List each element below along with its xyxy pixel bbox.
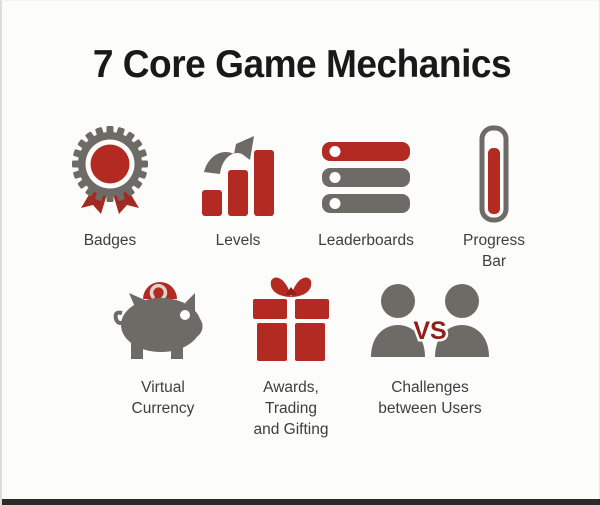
infographic-canvas: 7 Core Game Mechanics	[0, 0, 600, 505]
badge-rosette-icon	[67, 126, 153, 222]
mechanic-item-leaderboards[interactable]: Leaderboards	[302, 126, 430, 251]
mechanic-item-progress-bar[interactable]: Progress Bar	[430, 126, 558, 272]
leaderboard-list-icon	[320, 126, 412, 222]
mechanic-label-virtual-currency: Virtual Currency	[132, 377, 195, 419]
challenges-icon-box: VS	[367, 273, 493, 369]
badges-icon-box	[67, 126, 153, 222]
levels-icon-box	[198, 126, 278, 222]
mechanic-label-leaderboards: Leaderboards	[318, 230, 414, 251]
versus-label: VS	[413, 317, 446, 345]
mechanic-label-challenges: Challenges between Users	[378, 377, 481, 419]
page-title: 7 Core Game Mechanics	[17, 43, 587, 87]
bar-chart-arrow-icon	[198, 126, 278, 222]
mechanic-item-levels[interactable]: Levels	[174, 126, 302, 251]
mechanic-item-virtual-currency[interactable]: Virtual Currency	[99, 273, 227, 419]
mechanic-item-awards[interactable]: Awards, Trading and Gifting	[227, 273, 355, 440]
leaderboards-icon-box	[320, 126, 412, 222]
versus-users-icon: VS	[367, 273, 493, 369]
mechanic-item-challenges[interactable]: VS Challenges between Users	[355, 273, 505, 419]
bottom-edge-bar	[2, 499, 600, 505]
progress-bar-icon	[470, 126, 518, 222]
gift-box-icon	[249, 273, 333, 369]
mechanics-row-1: Badges Levels	[2, 126, 600, 272]
piggy-bank-icon	[113, 273, 213, 369]
progress-bar-icon-box	[470, 126, 518, 222]
mechanic-label-levels: Levels	[216, 230, 261, 251]
mechanic-label-progress-bar: Progress Bar	[463, 230, 525, 272]
mechanics-row-2: Virtual Currency Awards, Trading and	[2, 273, 600, 440]
mechanic-label-badges: Badges	[84, 230, 137, 251]
mechanic-item-badges[interactable]: Badges	[46, 126, 174, 251]
mechanic-label-awards: Awards, Trading and Gifting	[254, 377, 329, 440]
awards-icon-box	[249, 273, 333, 369]
virtual-currency-icon-box	[113, 273, 213, 369]
